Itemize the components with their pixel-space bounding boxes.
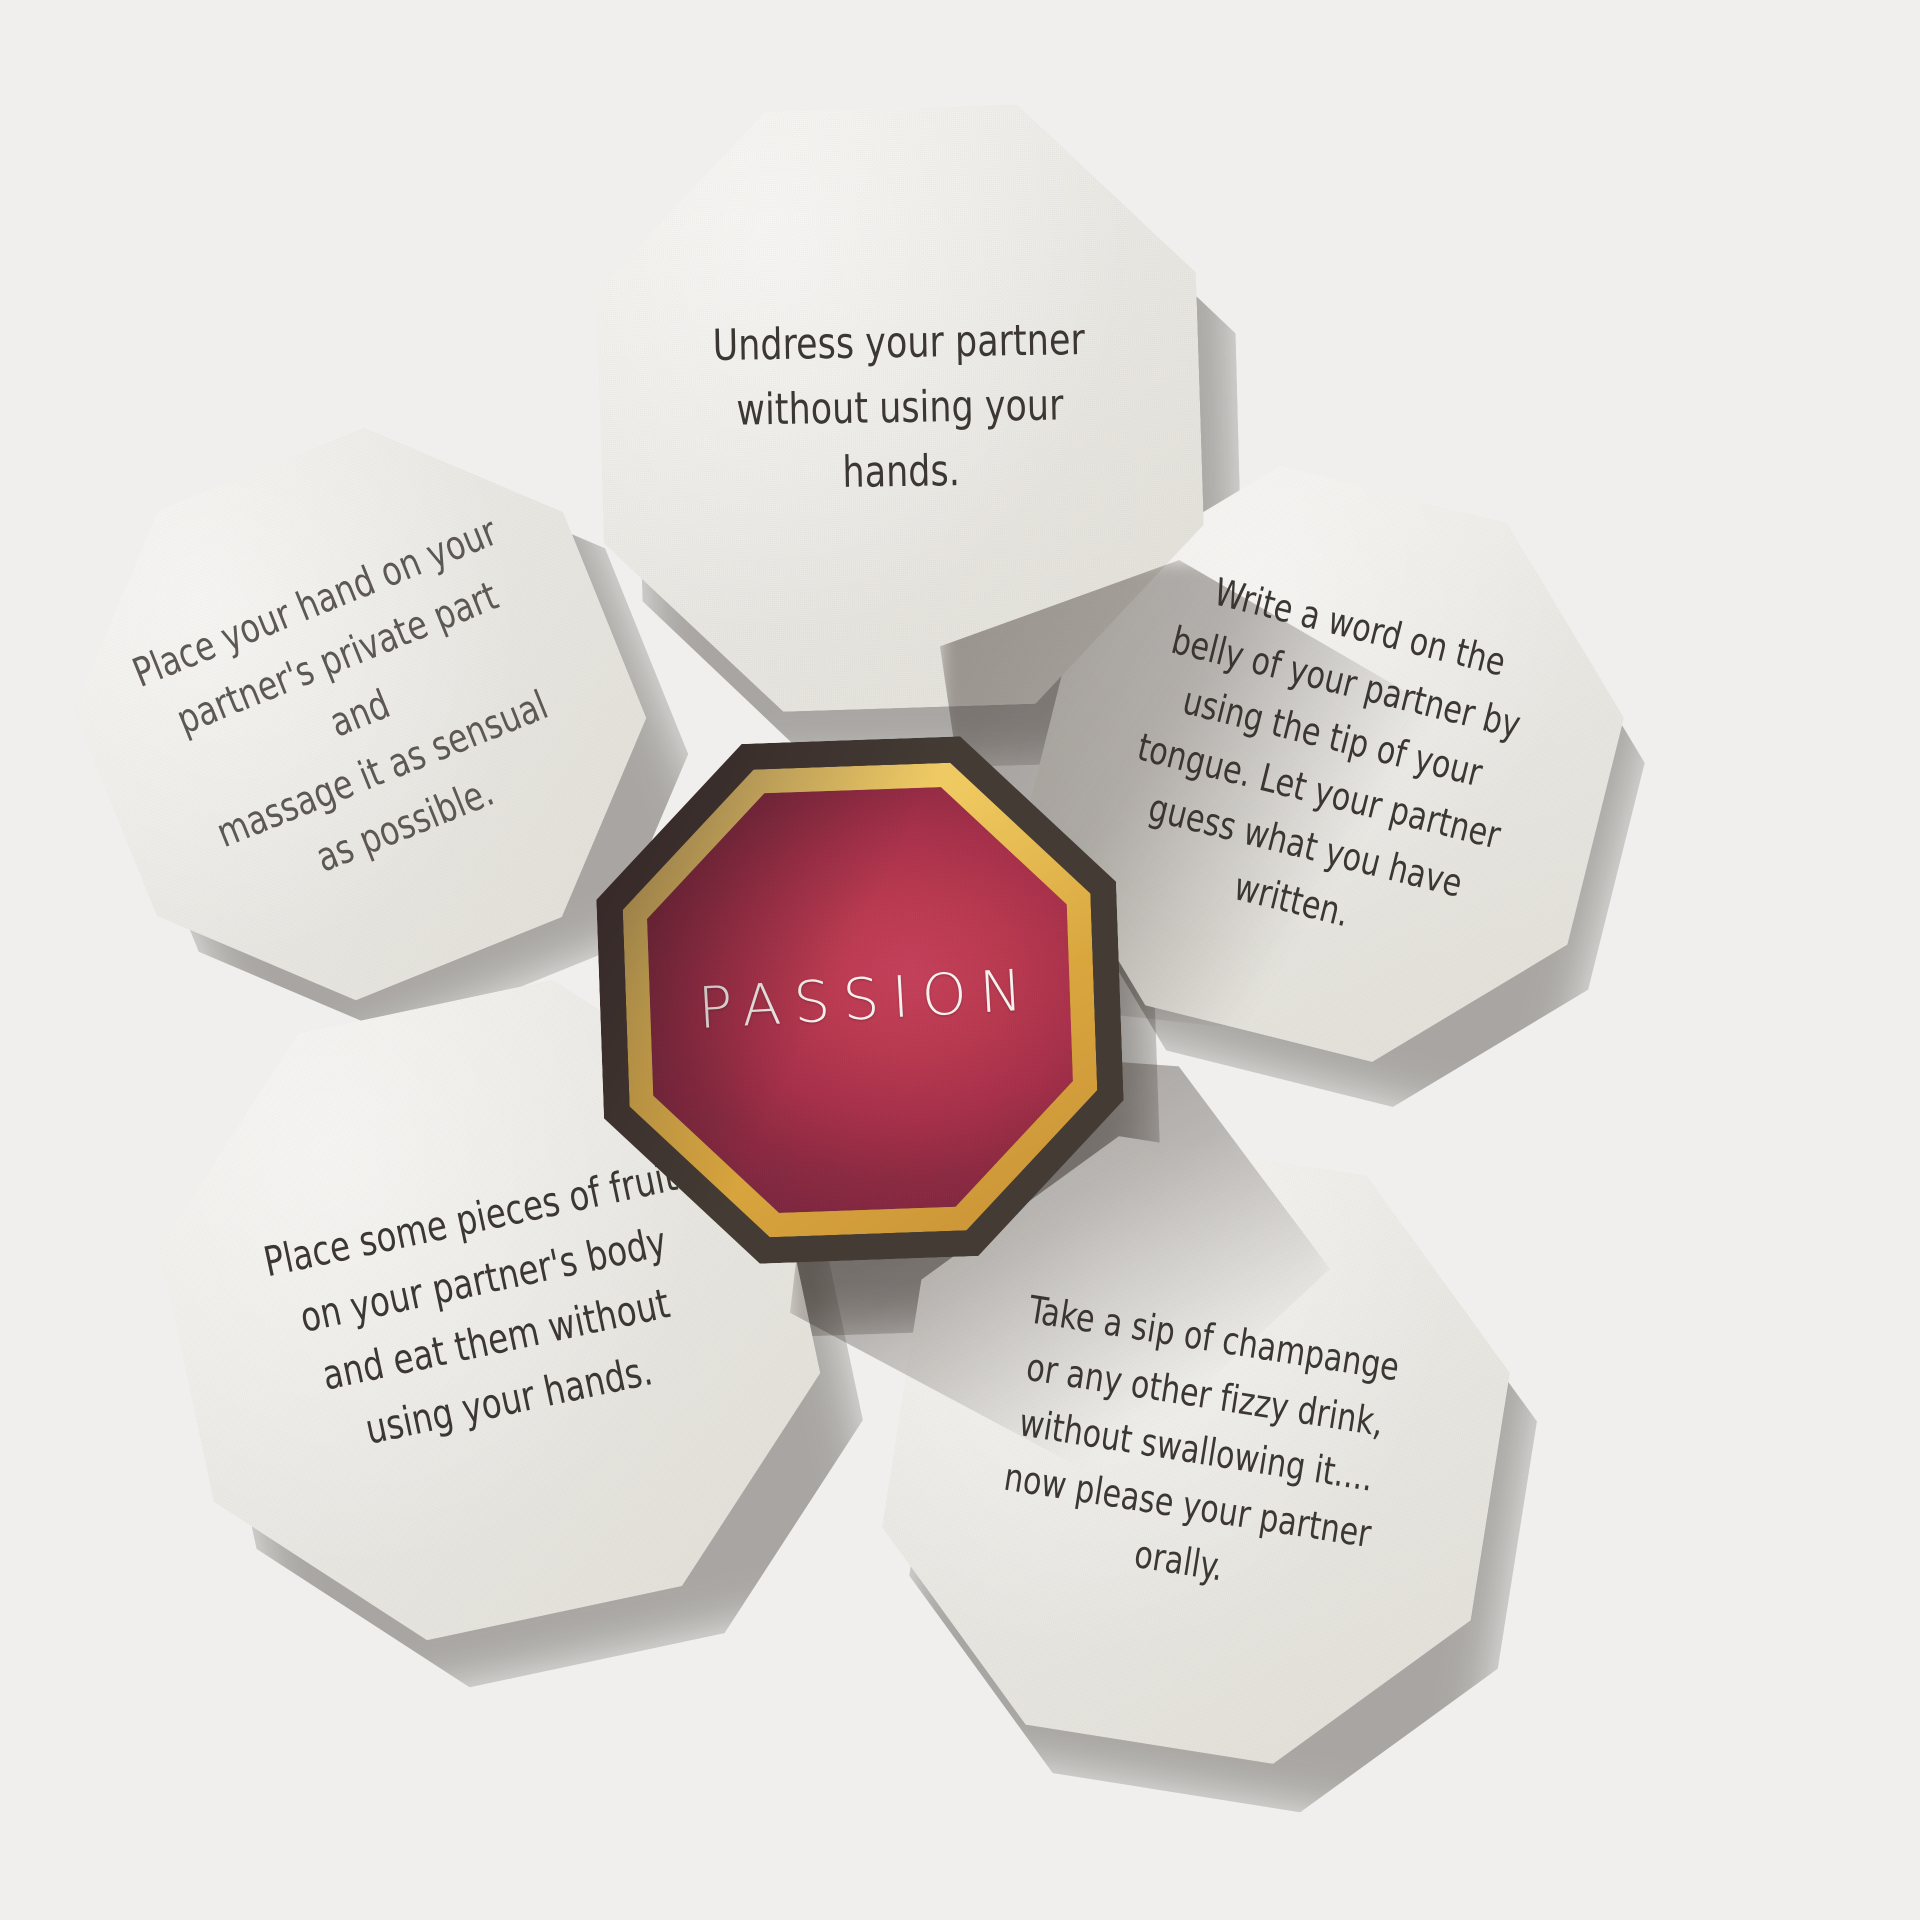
card-spread-canvas: Take a sip of champange or any other fiz… (0, 0, 1920, 1920)
prompt-card-left-text: Place your hand on your partner's privat… (88, 488, 631, 940)
prompt-card-bottom-right-text: Take a sip of champange or any other fiz… (948, 1275, 1445, 1624)
prompt-card-top-text: Undress your partner without using your … (628, 307, 1172, 509)
prompt-card-right-text: Write a word on the belly of your partne… (1067, 546, 1586, 982)
center-card-label: PASSION (683, 957, 1037, 1042)
